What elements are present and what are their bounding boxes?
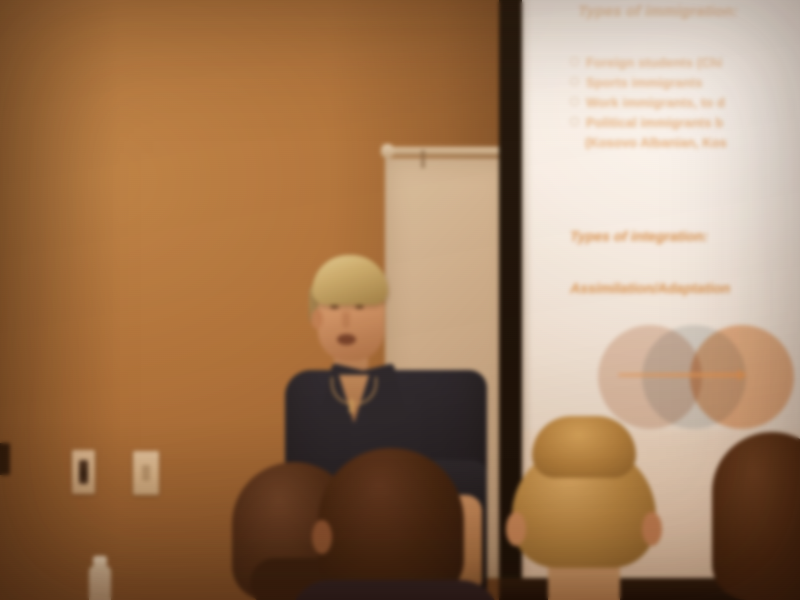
speaker-hair bbox=[312, 255, 388, 305]
audience-head-right bbox=[512, 420, 656, 600]
audience-shoulder bbox=[290, 580, 500, 600]
list-item: Foreign students (Chi bbox=[570, 55, 800, 70]
speaker-pendant bbox=[349, 399, 354, 413]
audience-ear-left bbox=[506, 512, 526, 546]
water-bottle bbox=[88, 556, 112, 600]
speaker-nose bbox=[342, 312, 350, 328]
list-item: Political immigrants b bbox=[570, 115, 800, 130]
audience-hair-bun bbox=[532, 416, 636, 478]
list-item: Sports immigrants bbox=[570, 75, 800, 90]
speaker-mouth bbox=[337, 334, 356, 345]
light-switch[interactable] bbox=[72, 450, 95, 494]
bullet-label: Sports immigrants bbox=[586, 75, 703, 90]
audience-ear-right bbox=[642, 512, 662, 546]
audience-head-far-right bbox=[712, 432, 800, 600]
audience-head-center bbox=[318, 448, 464, 600]
whiteboard-bracket bbox=[421, 150, 425, 168]
bullet-label: Political immigrants b bbox=[586, 115, 723, 130]
speaker-eye-right bbox=[355, 305, 364, 309]
dimmer-slot bbox=[142, 465, 150, 481]
slide-bullet-list: Foreign students (Chi Sports immigrants … bbox=[570, 55, 800, 150]
diagram-arrow-icon bbox=[618, 373, 740, 377]
bottle-body bbox=[89, 565, 111, 600]
slide-subtitle: Types of integration: bbox=[570, 228, 708, 244]
circle-bullet-icon bbox=[570, 97, 579, 106]
lecture-room-photo: Types of immigration: Foreign students (… bbox=[0, 0, 800, 600]
slide-title: Types of immigration: bbox=[578, 3, 738, 20]
list-item: Work immigrants, to d bbox=[570, 95, 800, 110]
audience-ear bbox=[312, 520, 332, 554]
speaker-eye-left bbox=[330, 305, 339, 309]
bullet-label: Foreign students (Chi bbox=[586, 55, 722, 70]
circle-bullet-icon bbox=[570, 77, 579, 86]
bullet-label: Work immigrants, to d bbox=[586, 95, 725, 110]
whiteboard-rail-cap bbox=[381, 144, 394, 158]
speaker-ear bbox=[311, 309, 323, 329]
slide-body-line: Assimilation/Adaptation bbox=[570, 280, 730, 296]
circle-bullet-icon bbox=[570, 57, 579, 66]
circle-bullet-icon bbox=[570, 117, 579, 126]
audience-hair bbox=[712, 432, 800, 600]
bullet-continuation-label: (Kosovo Albanian, Kos bbox=[585, 135, 800, 150]
light-switch-toggle[interactable] bbox=[79, 460, 88, 484]
audience-hair bbox=[318, 448, 464, 600]
wall-object-left-edge bbox=[0, 443, 10, 475]
dimmer-plate[interactable] bbox=[133, 451, 159, 495]
